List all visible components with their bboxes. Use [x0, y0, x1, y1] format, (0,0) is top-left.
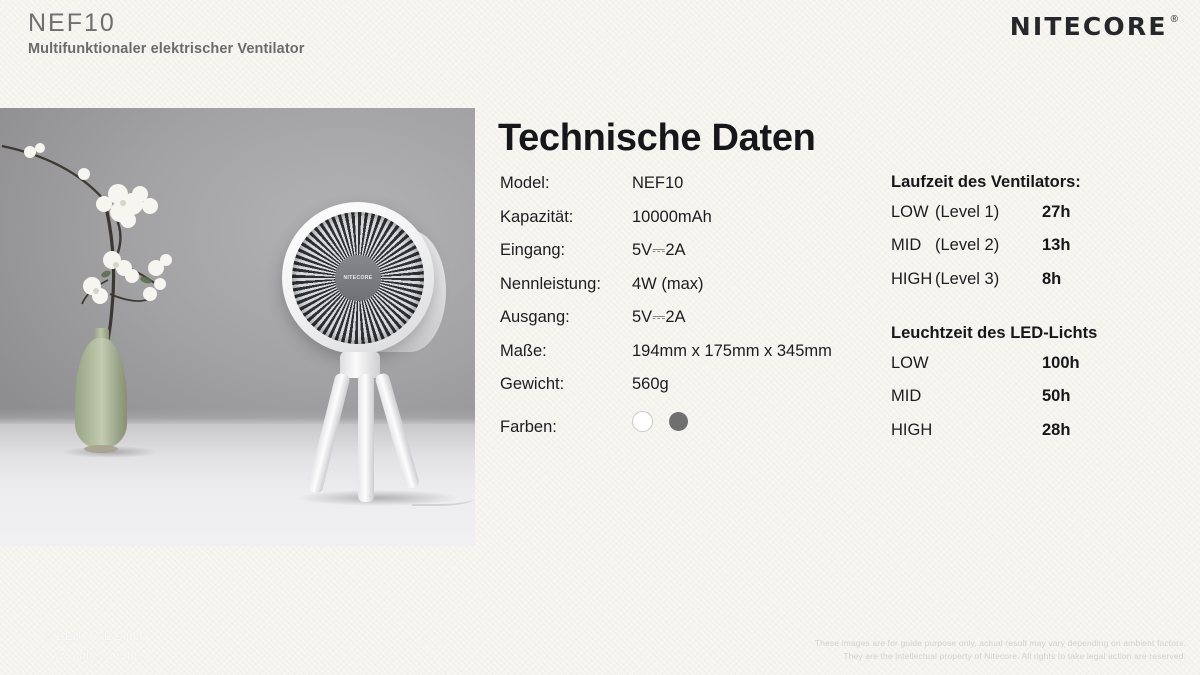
fan-hub-logo: NITECORE	[343, 275, 372, 281]
runtime-level: (Level 1)	[935, 203, 1042, 222]
fan-runtime-row-mid: MID (Level 2) 13h	[891, 236, 1191, 270]
page-title: NEF10	[28, 11, 116, 36]
runtime-hours: 28h	[1042, 421, 1070, 440]
runtime-hours: 13h	[1042, 236, 1070, 255]
spec-value: NEF10	[632, 174, 683, 193]
vase	[75, 338, 127, 448]
spec-label: Maße:	[500, 342, 632, 361]
legal-disclaimer: These images are for guide purpose only,…	[815, 637, 1186, 662]
spec-label: Model:	[500, 174, 632, 193]
spec-value: 5V⎓2A	[632, 308, 686, 327]
spec-value: 194mm x 175mm x 345mm	[632, 342, 832, 361]
color-swatches	[632, 409, 688, 432]
spec-row-capacity: Kapazität: 10000mAh	[500, 208, 880, 242]
tripod-leg-center	[358, 374, 374, 502]
spec-value: 10000mAh	[632, 208, 712, 227]
spec-row-input: Eingang: 5V⎓2A	[500, 241, 880, 275]
page-subtitle: Multifunktionaler elektrischer Ventilato…	[28, 42, 304, 57]
runtime-hours: 100h	[1042, 354, 1080, 373]
spec-value: 4W (max)	[632, 275, 704, 294]
watermark-line-1: © DEU: KTL GmbH	[44, 628, 148, 647]
fan-runtime-row-high: HIGH (Level 3) 8h	[891, 270, 1191, 304]
led-runtime-block: Leuchtzeit des LED-Lichts LOW 100h MID 5…	[891, 325, 1191, 454]
brand-logo: NITECORE ®	[1010, 14, 1178, 39]
disclaimer-line-2: They are the intellectual property of Ni…	[815, 650, 1186, 663]
led-runtime-heading: Leuchtzeit des LED-Lichts	[891, 325, 1191, 342]
spec-row-weight: Gewicht: 560g	[500, 375, 880, 409]
runtime-tables: Laufzeit des Ventilators: LOW (Level 1) …	[891, 174, 1191, 454]
runtime-hours: 50h	[1042, 387, 1070, 406]
brand-wordmark: NITECORE	[1010, 14, 1168, 39]
fan-hub: NITECORE	[335, 255, 381, 301]
spec-label: Gewicht:	[500, 375, 632, 394]
led-runtime-row-mid: MID 50h	[891, 387, 1191, 421]
vase-foot	[84, 445, 118, 453]
spec-label: Ausgang:	[500, 308, 632, 327]
datasheet-page: NEF10 Multifunktionaler elektrischer Ven…	[0, 0, 1200, 675]
spec-row-output: Ausgang: 5V⎓2A	[500, 308, 880, 342]
disclaimer-line-1: These images are for guide purpose only,…	[815, 637, 1186, 650]
color-swatch-white[interactable]	[632, 411, 653, 432]
runtime-mode: HIGH	[891, 270, 935, 289]
spec-table: Model: NEF10 Kapazität: 10000mAh Eingang…	[500, 174, 880, 442]
runtime-mode: MID	[891, 387, 1042, 406]
spec-row-model: Model: NEF10	[500, 174, 880, 208]
distributor-watermark: © DEU: KTL GmbH www.nitecore.de	[44, 628, 148, 666]
fan-runtime-row-low: LOW (Level 1) 27h	[891, 203, 1191, 237]
runtime-hours: 27h	[1042, 203, 1070, 222]
spec-label: Farben:	[500, 418, 632, 437]
runtime-hours: 8h	[1042, 270, 1061, 289]
spec-label: Eingang:	[500, 241, 632, 260]
runtime-level: (Level 2)	[935, 236, 1042, 255]
product-photo: NITECORE	[0, 108, 475, 546]
fan-bezel: NITECORE	[282, 202, 434, 354]
tripod-leg-right	[374, 372, 420, 489]
spec-row-colors: Farben:	[500, 409, 880, 443]
spec-value: 5V⎓2A	[632, 241, 686, 260]
spec-label: Kapazität:	[500, 208, 632, 227]
runtime-mode: LOW	[891, 203, 935, 222]
fan-runtime-heading: Laufzeit des Ventilators:	[891, 174, 1191, 191]
runtime-mode: HIGH	[891, 421, 1042, 440]
spec-value: 560g	[632, 375, 669, 394]
spec-section-title: Technische Daten	[498, 119, 816, 157]
spec-label: Nennleistung:	[500, 275, 632, 294]
runtime-level: (Level 3)	[935, 270, 1042, 289]
led-runtime-row-high: HIGH 28h	[891, 421, 1191, 455]
color-swatch-gray[interactable]	[669, 412, 688, 431]
runtime-mode: LOW	[891, 354, 1042, 373]
watermark-line-2: www.nitecore.de	[51, 647, 148, 666]
registered-trademark-icon: ®	[1171, 15, 1178, 25]
tripod-leg-left	[307, 372, 351, 494]
spec-row-dimensions: Maße: 194mm x 175mm x 345mm	[500, 342, 880, 376]
led-runtime-row-low: LOW 100h	[891, 354, 1191, 388]
fan-product: NITECORE	[262, 194, 462, 524]
spec-row-power: Nennleistung: 4W (max)	[500, 275, 880, 309]
runtime-mode: MID	[891, 236, 935, 255]
